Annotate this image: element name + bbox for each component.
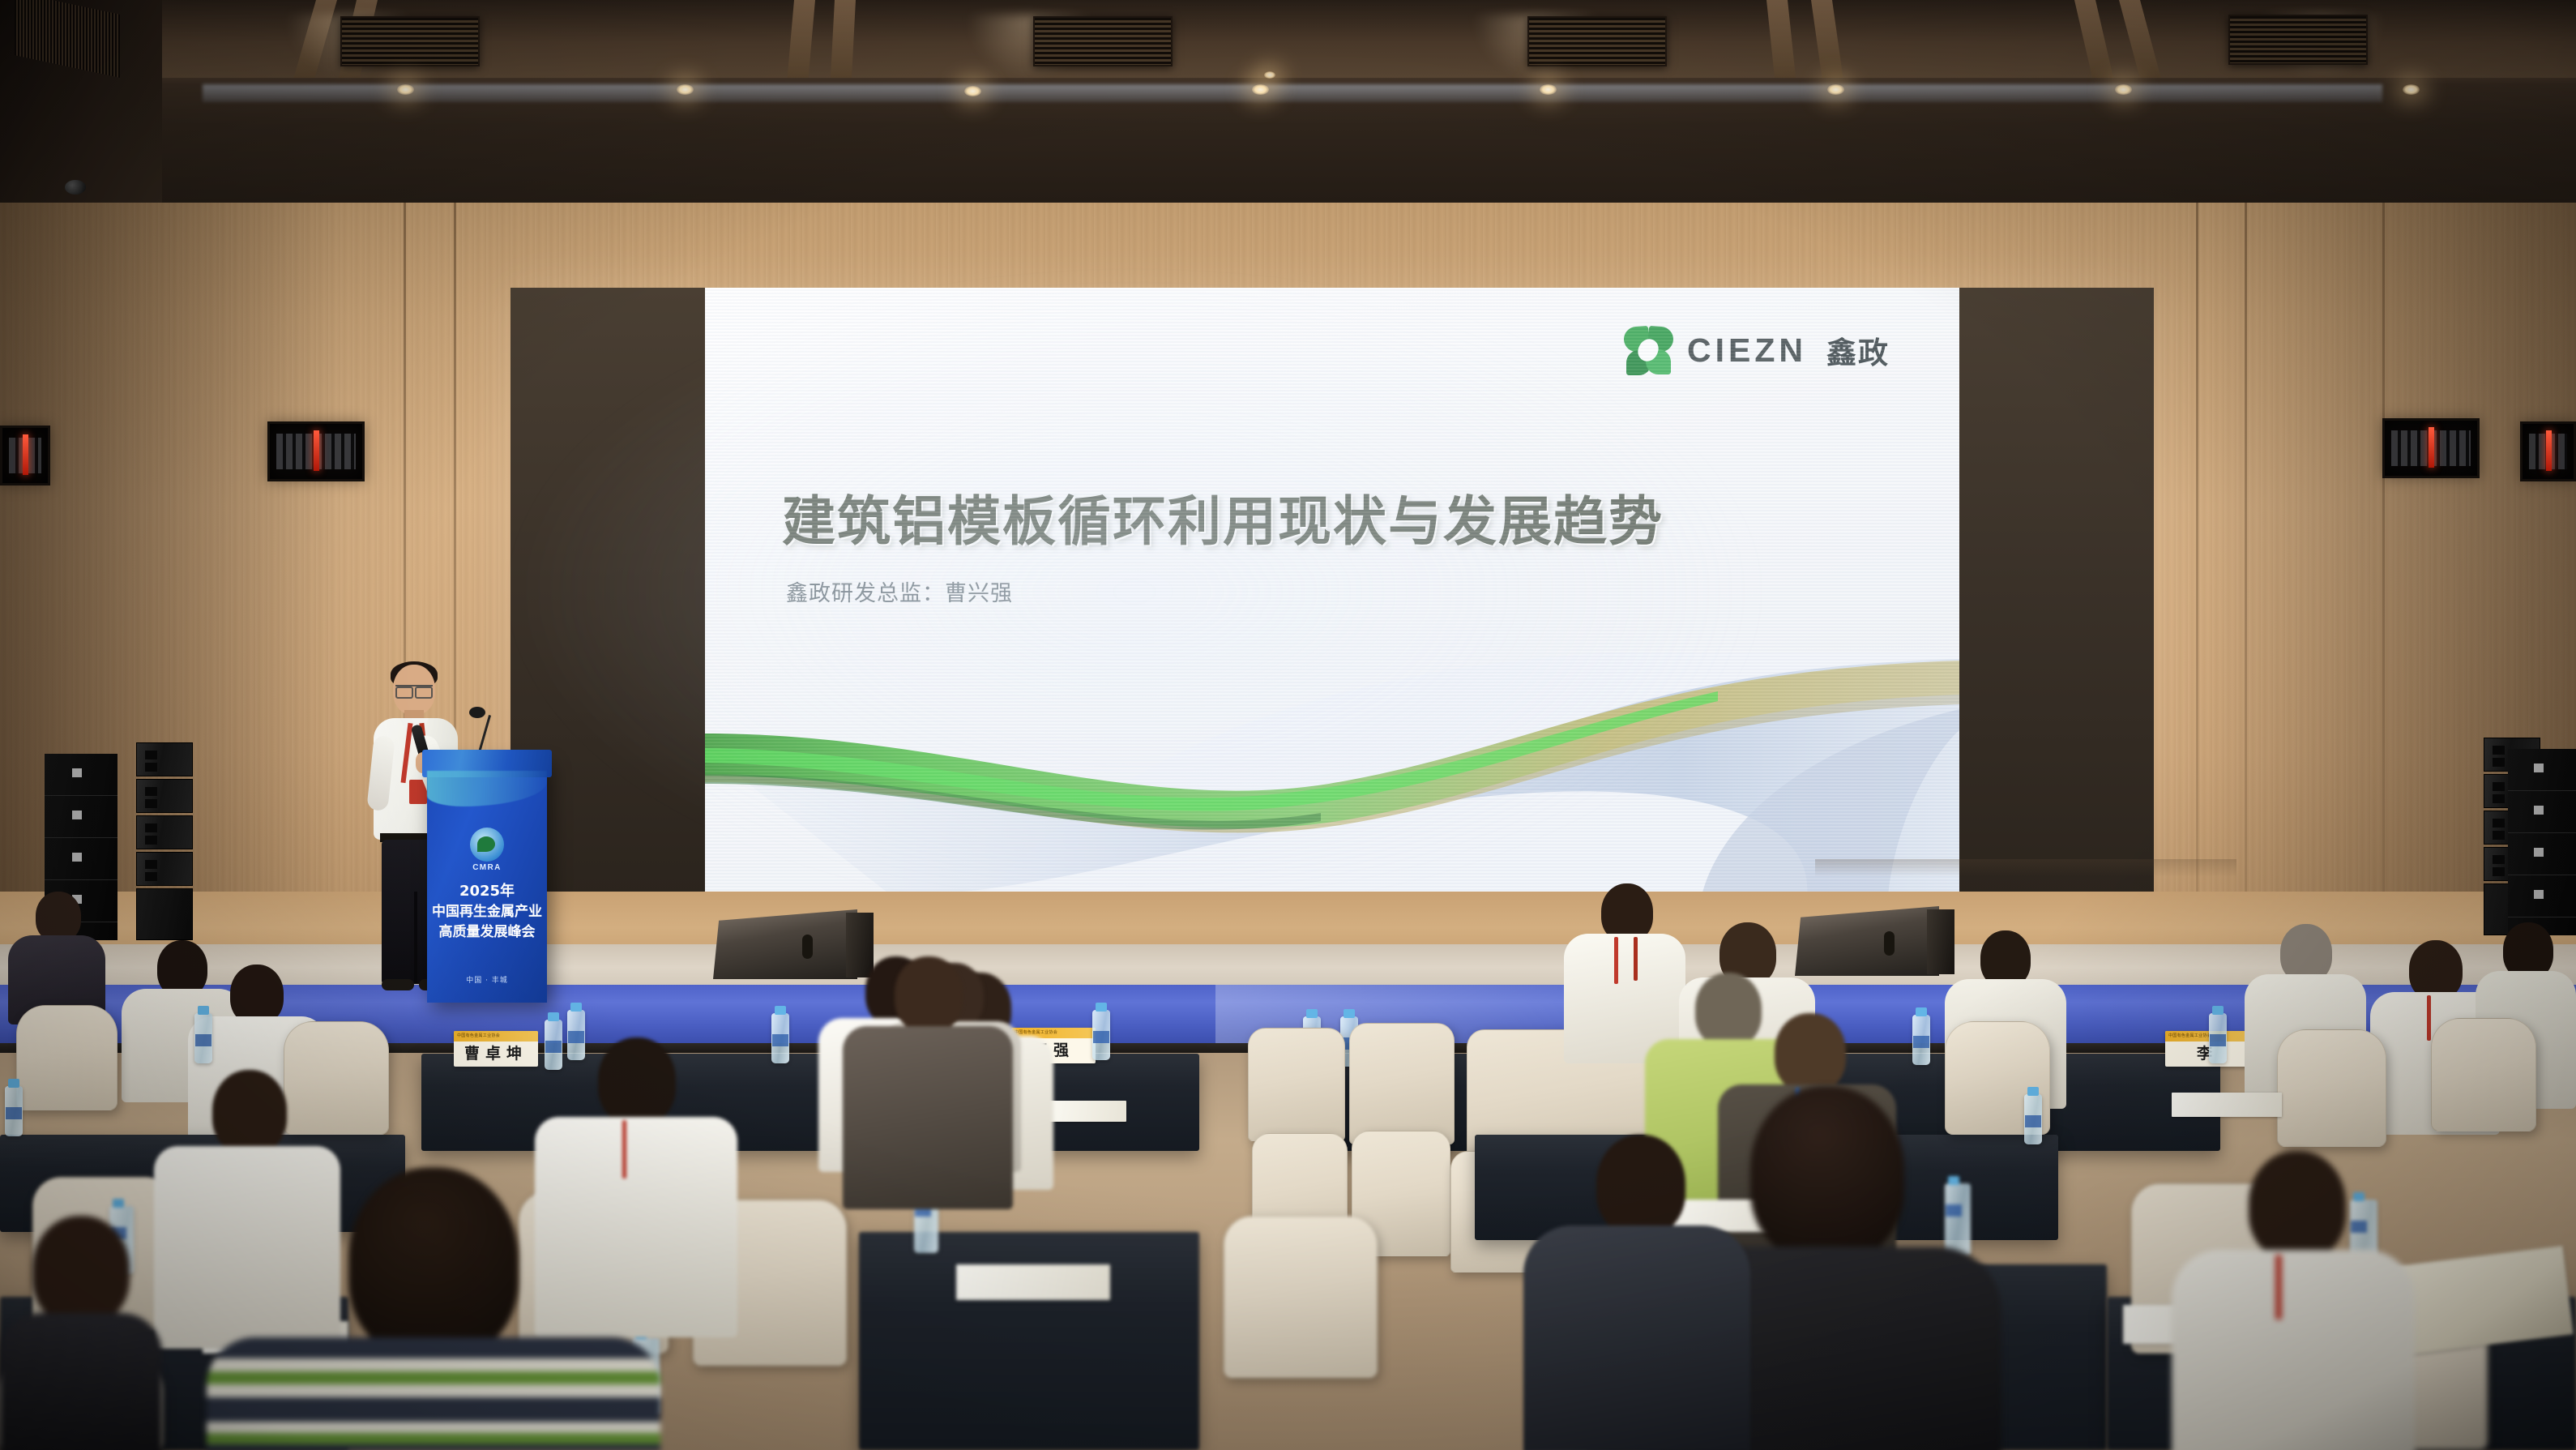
ceiling-downlight (1252, 84, 1269, 95)
vip-chair (1248, 1028, 1345, 1141)
security-camera-icon (65, 180, 86, 195)
ceiling-downlight (1540, 84, 1557, 95)
stage-monitor-speaker (1795, 906, 1939, 976)
ceiling-vent-grille (1527, 16, 1667, 66)
document (2172, 1093, 2282, 1117)
slide-title: 建筑铝模板循环利用现状与发展趋势 (782, 478, 1916, 556)
water-bottle (771, 1013, 789, 1063)
wall-seam (2382, 195, 2385, 973)
attendee (8, 892, 105, 1013)
conference-hall-photo: CIEZN 鑫政 建筑铝模板循环利用现状与发展趋势 鑫政研发总监：曹兴强 (0, 0, 2576, 1450)
attendee-chair (16, 1005, 117, 1110)
name-card-name: 曹卓坤 (454, 1042, 538, 1067)
attendee (843, 956, 1013, 1200)
attendee-foreground (207, 1167, 660, 1450)
podium-event-title: 2025年 中国再生金属产业 高质量发展峰会 (427, 881, 547, 942)
document (956, 1264, 1110, 1300)
line-array-speaker-left (136, 742, 193, 940)
wall-seam (2245, 195, 2247, 973)
water-bottle (2024, 1094, 2042, 1144)
brand-logo-latin: CIEZN (1687, 331, 1807, 370)
attendee-chair (2431, 1018, 2536, 1131)
attendee-chair (1224, 1216, 1378, 1378)
attendee (0, 1216, 162, 1450)
wall-niche-light (2382, 418, 2480, 478)
ceiling-downlight (2403, 84, 2420, 95)
ceiling-downlight (1827, 84, 1844, 95)
ceiling-left-soffit (0, 0, 162, 203)
attendee-chair (2277, 1029, 2386, 1147)
name-card-name: 李 (2165, 1042, 2249, 1067)
ciezn-pinwheel-icon (1623, 325, 1673, 375)
presentation-slide: CIEZN 鑫政 建筑铝模板循环利用现状与发展趋势 鑫政研发总监：曹兴强 (705, 288, 1959, 896)
podium-microphone-head (469, 707, 485, 718)
podium-footer-location: 中国 · 丰城 (427, 974, 547, 985)
water-bottle (1092, 1010, 1110, 1060)
cmra-abbrev: CMRA (427, 863, 547, 872)
slide-wave-graphic (705, 652, 1959, 896)
ceiling-vent-grille (1033, 16, 1173, 66)
cmra-logo-icon (470, 828, 504, 862)
led-screen-assembly: CIEZN 鑫政 建筑铝模板循环利用现状与发展趋势 鑫政研发总监：曹兴强 (511, 288, 2154, 896)
ceiling-downlight (677, 84, 694, 95)
water-bottle (194, 1013, 212, 1063)
attendee (1523, 1135, 1750, 1450)
presenter-shoe (382, 979, 414, 990)
brand-logo-chinese: 鑫政 (1826, 328, 1890, 372)
name-card: 中国有色金属工业协会 李 (2165, 1031, 2249, 1067)
slide-subtitle: 鑫政研发总监：曹兴强 (786, 575, 1013, 607)
podium-line-3: 高质量发展峰会 (427, 922, 547, 943)
wall-niche-light (2520, 421, 2576, 481)
name-card-org: 中国有色金属工业协会 (454, 1031, 538, 1042)
podium-line-2: 中国再生金属产业 (427, 902, 547, 922)
attendee (2172, 1151, 2415, 1450)
screen-side-panel-right (1959, 288, 2154, 896)
podium-line-1: 2025年 (427, 881, 547, 902)
ceiling-vent-grille (2228, 15, 2368, 65)
wall-niche-light (0, 426, 50, 485)
water-bottle (1912, 1015, 1930, 1065)
ceiling-beam (831, 0, 856, 78)
wall-seam (2196, 195, 2198, 973)
name-card: 中国有色金属工业协会 曹卓坤 (454, 1031, 538, 1067)
brand-logo: CIEZN 鑫政 (1623, 325, 1890, 375)
attendee-striped-polo (207, 1337, 660, 1450)
name-card-org: 中国有色金属工业协会 (2165, 1031, 2249, 1042)
glasses-icon (395, 685, 433, 693)
ceiling-downlight (397, 84, 414, 95)
water-bottle (2209, 1013, 2227, 1063)
ceiling-downlight (2115, 84, 2132, 95)
water-bottle (5, 1086, 23, 1136)
wall-niche-light (267, 421, 365, 481)
hall-ceiling (0, 0, 2576, 203)
vip-chair (1349, 1023, 1455, 1144)
podium: CMRA 2025年 中国再生金属产业 高质量发展峰会 中国 · 丰城 (427, 758, 547, 1003)
ceiling-downlight (1264, 71, 1275, 79)
ceiling-light-cove (203, 84, 2382, 102)
amp-rack-right (2508, 749, 2576, 935)
podium-wave-graphic (427, 771, 547, 806)
ceiling-vent-grille (340, 16, 480, 66)
ceiling-downlight (964, 86, 981, 96)
wall-trim (1815, 859, 2236, 877)
